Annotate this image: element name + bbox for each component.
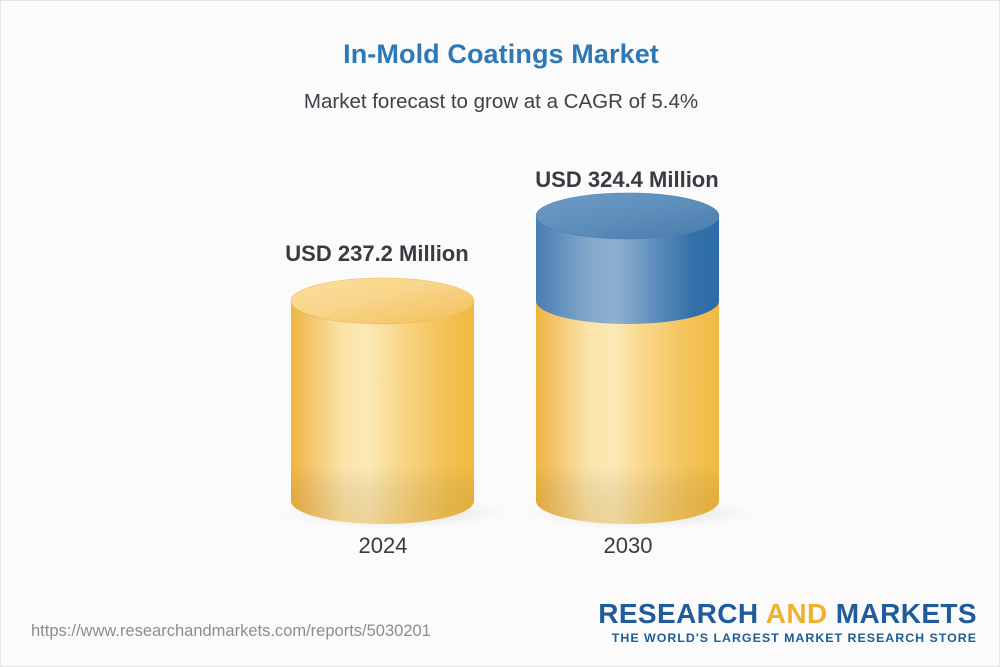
bar-category-label-2030: 2030 xyxy=(528,533,728,559)
logo-wordmark: RESEARCH AND MARKETS xyxy=(598,599,977,629)
bar-2030-top-cap xyxy=(536,193,719,239)
cylinder-bars-svg xyxy=(1,1,1000,601)
chart-infographic: In-Mold Coatings Market Market forecast … xyxy=(0,0,1000,667)
logo-word-markets: MARKETS xyxy=(836,598,977,629)
bar-2030-bottom-shade xyxy=(536,466,719,524)
bar-value-label-2030: USD 324.4 Million xyxy=(507,167,747,193)
bar-cylinder-2030 xyxy=(536,193,719,524)
logo-word-and: AND xyxy=(766,598,836,629)
bar-category-label-2024: 2024 xyxy=(283,533,483,559)
logo-word-research: RESEARCH xyxy=(598,598,765,629)
logo-tagline: THE WORLD'S LARGEST MARKET RESEARCH STOR… xyxy=(598,630,977,646)
report-url[interactable]: https://www.researchandmarkets.com/repor… xyxy=(31,622,431,641)
bar-2024-top-cap xyxy=(291,278,474,324)
chart-plot-area: USD 237.2 Million USD 324.4 Million 2024… xyxy=(1,1,1000,601)
research-and-markets-logo[interactable]: RESEARCH AND MARKETS THE WORLD'S LARGEST… xyxy=(598,599,977,646)
bar-cylinder-2024 xyxy=(291,278,474,524)
bar-value-label-2024: USD 237.2 Million xyxy=(257,241,497,267)
bar-2024-bottom-shade xyxy=(291,466,474,524)
